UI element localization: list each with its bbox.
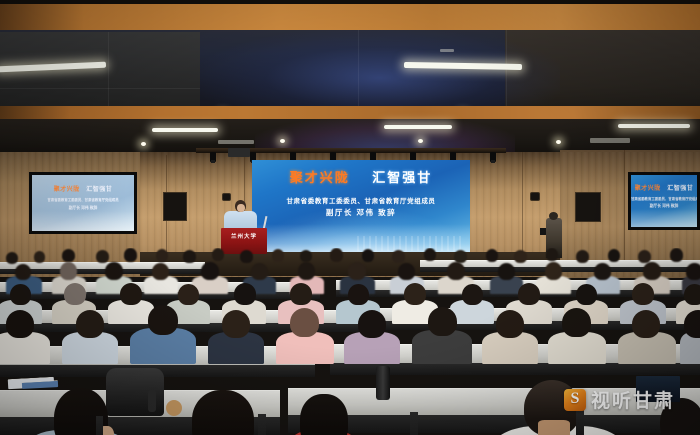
audience-head <box>608 249 620 262</box>
audience-head <box>643 262 661 280</box>
audience-head <box>632 283 654 305</box>
side-screen-right-title-part-1: 聚才兴陇 <box>635 186 661 192</box>
ceiling-spot-light-7 <box>556 140 561 144</box>
audience-head <box>105 262 123 280</box>
seat-divider <box>258 414 266 435</box>
audience-head <box>486 249 498 262</box>
audience-head <box>594 263 611 280</box>
side-projection-screen-left: 聚才兴陇 汇智强甘 甘肃省委教育工委委员、甘肃省教育厅党组成员 副厅长 邓伟 致… <box>29 172 137 234</box>
audience-head <box>10 284 31 305</box>
audience-head <box>576 250 589 263</box>
ceiling-vent <box>440 49 454 52</box>
audience-head <box>518 283 540 305</box>
side-screen-left-title: 聚才兴陇 汇智强甘 <box>32 184 134 193</box>
ceiling-seam-a <box>108 32 109 110</box>
side-screen-right-title: 聚才兴陇 汇智强甘 <box>631 183 697 192</box>
audience-head <box>545 262 562 280</box>
main-screen-title-part-1: 聚才兴陇 <box>290 170 350 185</box>
main-screen-subtitle-1: 甘肃省委教育工委委员、甘肃省教育厅党组成员 <box>252 195 470 205</box>
plush-keychain <box>166 400 182 416</box>
audience-head <box>638 250 651 263</box>
side-projection-screen-right: 聚才兴陇 汇智强甘 甘肃省委教育工委委员、甘肃省教育厅党组成员 副厅长 邓伟 致… <box>628 172 700 230</box>
wall-access-panel-right <box>575 192 601 222</box>
audience-head <box>222 310 250 338</box>
audience-head <box>546 248 558 261</box>
audience-head <box>15 264 31 280</box>
ceiling-seam-d <box>0 88 200 89</box>
audience-head <box>152 263 169 280</box>
audience-head <box>240 250 253 263</box>
ceiling-wood-beam-lower <box>0 106 700 120</box>
audience-head <box>684 310 700 338</box>
side-screen-left-subtitle-2: 副厅长 邓伟 致辞 <box>32 206 134 211</box>
audience-head <box>298 262 315 280</box>
audience-head <box>428 307 457 336</box>
main-screen-title: 聚才兴陇 汇智强甘 <box>252 171 470 184</box>
audience-head <box>392 250 405 263</box>
ceiling-wood-beam-upper <box>0 4 700 32</box>
audience-head <box>398 263 415 280</box>
audience-head <box>96 250 109 263</box>
stage-spotlight-8 <box>490 152 496 162</box>
audience-head <box>64 283 86 305</box>
audience-head <box>632 310 660 338</box>
seat-divider <box>410 412 418 435</box>
audience-head <box>300 250 312 262</box>
audience-head <box>684 284 700 305</box>
audience-neck <box>538 420 570 435</box>
audience-head <box>234 283 256 305</box>
audience-head <box>212 248 224 261</box>
side-screen-left-surface: 聚才兴陇 汇智强甘 甘肃省委教育工委委员、甘肃省教育厅党组成员 副厅长 邓伟 致… <box>32 175 134 231</box>
seat-divider <box>576 410 584 435</box>
audience-head <box>447 262 465 280</box>
audience-head <box>562 308 591 337</box>
side-screen-left-wave-graphic <box>32 211 134 231</box>
side-screen-right-surface: 聚才兴陇 汇智强甘 甘肃省委教育工委委员、甘肃省教育厅党组成员 副厅长 邓伟 致… <box>631 175 697 227</box>
ceiling-diffuser-panel-3 <box>590 138 630 143</box>
audience-head <box>290 283 312 305</box>
camera-operator-head <box>549 212 558 220</box>
main-screen-title-part-2: 汇智强甘 <box>372 170 432 185</box>
audience-head <box>192 390 254 435</box>
side-screen-right-title-part-2: 汇智强甘 <box>667 186 693 192</box>
ceiling-spot-light-4 <box>141 142 146 146</box>
ceiling-diffuser-panel-2 <box>218 140 254 144</box>
main-led-screen: 聚才兴陇 汇智强甘 甘肃省委教育工委委员、甘肃省教育厅党组成员 副厅长 邓伟 致… <box>252 160 470 252</box>
watermark-logo-icon: S <box>564 389 586 411</box>
ceiling-spot-light-5 <box>280 139 285 143</box>
audience-head <box>178 284 199 305</box>
audience-head <box>670 248 683 262</box>
audience-head <box>148 305 178 335</box>
stage-spotlight-1 <box>210 152 216 162</box>
audience-head <box>183 250 196 263</box>
main-screen-subtitle-2: 副厅长 邓伟 致辞 <box>252 207 470 218</box>
ceiling-tile-left <box>0 32 200 110</box>
audience-head <box>462 284 483 305</box>
audience-head <box>156 249 168 262</box>
seat-divider <box>96 416 103 435</box>
ceiling-strip-light-5 <box>618 124 690 128</box>
audience-head <box>576 284 597 305</box>
watermark-text: 视听甘肃 <box>591 386 675 413</box>
ceiling-seam-c <box>506 30 507 110</box>
audience-head <box>404 283 426 305</box>
desk-row-e-right-edge <box>288 415 700 433</box>
audience-head <box>124 248 137 262</box>
ceiling-seam-b <box>358 30 359 110</box>
side-screen-right-subtitle-1: 甘肃省委教育工委委员、甘肃省教育厅党组成员 <box>631 196 697 201</box>
audience-head <box>201 262 219 280</box>
side-screen-right-wave-graphic <box>631 209 697 227</box>
audience-head <box>514 250 527 263</box>
audience-head <box>6 310 34 338</box>
wall-speaker-box <box>222 193 231 201</box>
audience-head <box>498 263 515 280</box>
desk-paper-stack-2 <box>22 380 58 389</box>
podium-label: 兰州大学 <box>221 232 267 240</box>
audience-head <box>76 310 104 338</box>
side-screen-left-subtitle-1: 甘肃省委教育工委委员、甘肃省教育厅党组成员 <box>32 197 134 202</box>
audience-head <box>62 249 75 262</box>
side-screen-left-title-part-1: 聚才兴陇 <box>54 187 80 193</box>
audience-head <box>272 249 284 262</box>
wall-speaker-box-right <box>530 192 540 201</box>
audience-head <box>300 394 348 435</box>
wall-access-panel-left <box>163 192 187 221</box>
speaker-face <box>237 204 245 212</box>
lecture-hall-photo: 聚才兴陇 汇智强甘 甘肃省委教育工委委员、甘肃省教育厅党组成员 副厅长 邓伟 致… <box>0 0 700 435</box>
audience-head <box>358 310 386 338</box>
audience-head <box>348 284 369 305</box>
audience-head <box>686 263 700 280</box>
watermark-logo-letter: S <box>564 388 586 410</box>
audience-head <box>362 249 374 262</box>
ceiling-spot-light-6 <box>418 139 423 143</box>
audience-head <box>424 248 436 261</box>
projector-unit <box>228 148 250 157</box>
audience-head <box>290 308 319 337</box>
audience-head <box>6 252 18 264</box>
backpack-strap <box>148 390 156 412</box>
audience-head <box>120 283 142 305</box>
audience-head <box>60 262 77 280</box>
ceiling-strip-light-4 <box>384 125 452 129</box>
ceiling-strip-light-3 <box>152 128 218 132</box>
watermark: S 视听甘肃 <box>564 386 675 413</box>
audience-head <box>348 262 366 280</box>
audience-head <box>330 248 343 262</box>
side-screen-left-title-part-2: 汇智强甘 <box>86 187 112 193</box>
audience-head <box>251 263 268 280</box>
water-bottle <box>376 366 390 400</box>
audience-head <box>496 310 524 338</box>
audience-head <box>34 251 45 263</box>
